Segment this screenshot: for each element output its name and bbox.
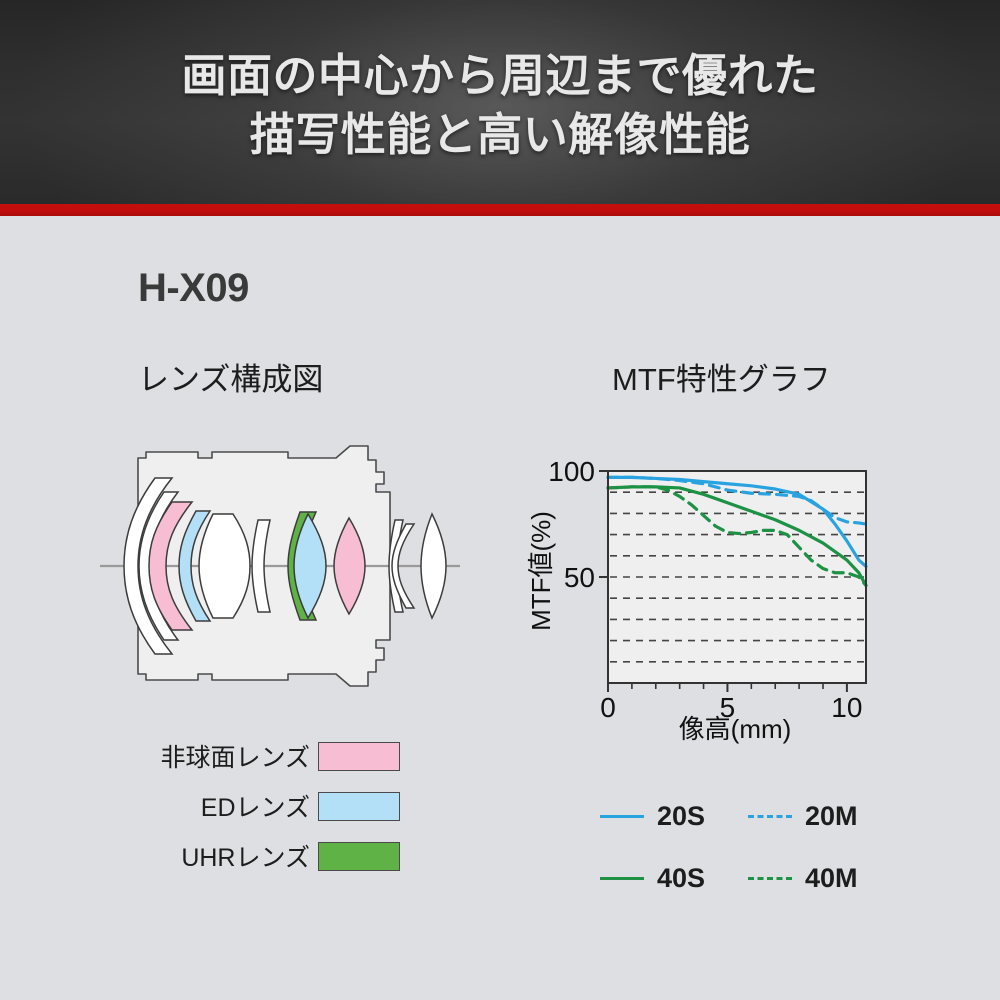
legend-row-ed: EDレンズ — [110, 791, 400, 821]
hero-banner: 画面の中心から周辺まで優れた 描写性能と高い解像性能 — [0, 0, 1000, 204]
chart-x-tick-label: 0 — [600, 692, 616, 723]
chart-y-axis-label: MTF値(%) — [526, 511, 556, 631]
legend-swatch-uhr — [318, 842, 400, 871]
mtf-chart: MTF値(%) 像高(mm) 051050100 — [520, 411, 920, 751]
legend-label-uhr: UHRレンズ — [181, 838, 310, 874]
lens-element-12 — [421, 514, 446, 618]
lens-element-5 — [199, 514, 250, 618]
lens-construction-diagram — [100, 416, 460, 716]
legend-item-20m: 20M — [748, 801, 896, 832]
legend-swatch-ed — [318, 792, 400, 821]
legend-row-aspherical: 非球面レンズ — [110, 741, 400, 771]
legend-row-20: 20S 20M — [600, 794, 900, 838]
legend-item-40m: 40M — [748, 863, 896, 894]
legend-row-uhr: UHRレンズ — [110, 841, 400, 871]
lens-diagram-title: レンズ構成図 — [138, 354, 323, 399]
legend-text-20m: 20M — [805, 801, 858, 832]
legend-line-20s — [600, 815, 644, 818]
legend-text-40m: 40M — [805, 863, 858, 894]
chart-plot-area — [608, 471, 866, 683]
chart-y-tick-label: 100 — [548, 456, 595, 487]
hero-headline-line2: 描写性能と高い解像性能 — [0, 105, 1000, 164]
legend-label-aspherical: 非球面レンズ — [160, 738, 310, 774]
legend-label-ed: EDレンズ — [201, 788, 310, 824]
mtf-series-legend: 20S 20M 40S 40M — [600, 794, 900, 900]
page-title: H-X09 — [138, 266, 249, 311]
mtf-chart-title: MTF特性グラフ — [612, 354, 831, 399]
chart-y-tick-label: 50 — [564, 562, 595, 593]
legend-item-40s: 40S — [600, 863, 748, 894]
legend-line-20m — [748, 815, 792, 818]
legend-text-20s: 20S — [657, 801, 705, 832]
legend-text-40s: 40S — [657, 863, 705, 894]
chart-x-tick-label: 5 — [720, 692, 736, 723]
legend-line-40s — [600, 877, 644, 880]
hero-text-block: 画面の中心から周辺まで優れた 描写性能と高い解像性能 — [0, 46, 1000, 164]
legend-line-40m — [748, 877, 792, 880]
legend-row-40: 40S 40M — [600, 856, 900, 900]
hero-headline-line1: 画面の中心から周辺まで優れた — [0, 46, 1000, 105]
legend-item-20s: 20S — [600, 801, 748, 832]
chart-x-tick-label: 10 — [831, 692, 862, 723]
accent-divider-bar — [0, 204, 1000, 216]
legend-swatch-aspherical — [318, 742, 400, 771]
content-area: H-X09 レンズ構成図 MTF特性グラフ — [0, 216, 1000, 1000]
lens-type-legend: 非球面レンズ EDレンズ UHRレンズ — [110, 741, 400, 891]
